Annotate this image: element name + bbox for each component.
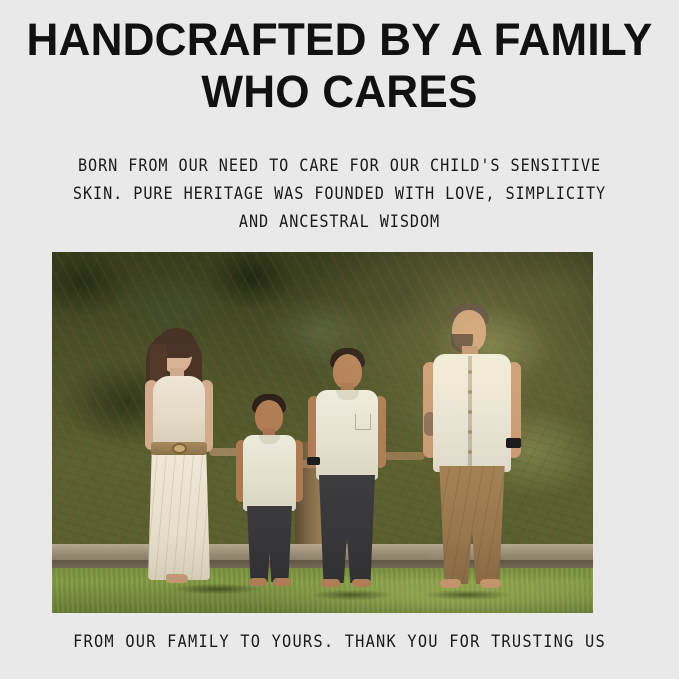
footer-tagline: FROM OUR FAMILY TO YOURS. THANK YOU FOR …: [24, 630, 655, 654]
older-boy-polo-shirt: [316, 390, 378, 480]
father-shirt-button: [468, 370, 472, 374]
older-boy-foot-right: [352, 579, 371, 587]
headline-line-1: HANDCRAFTED BY A FAMILY: [7, 14, 672, 66]
intro-line-3: AND ANCESTRAL WISDOM: [27, 208, 652, 236]
father-foot-right: [480, 579, 501, 588]
father-wrist-watch: [506, 438, 521, 448]
family-photo: [52, 252, 593, 613]
younger-boy-foot-left: [249, 578, 267, 586]
older-boy-chest-pocket: [355, 414, 371, 430]
mother-foot: [166, 574, 188, 583]
father-shirt-button: [468, 450, 472, 454]
mother-dress-top: [153, 376, 205, 448]
intro-paragraph: BORN FROM OUR NEED TO CARE FOR OUR CHILD…: [27, 152, 652, 236]
intro-line-2: SKIN. PURE HERITAGE WAS FOUNDED WITH LOV…: [27, 180, 652, 208]
father-button-shirt: [433, 354, 511, 472]
ground-shadow-father: [407, 588, 527, 602]
older-boy-wrist-watch: [307, 457, 320, 465]
held-hands-boy-father: [383, 452, 425, 460]
father-shirt-button: [468, 410, 472, 414]
younger-boy-foot-right: [273, 578, 291, 586]
headline-line-2: WHO CARES: [7, 66, 672, 118]
mother-dress-folds: [148, 452, 210, 580]
mother-belt-buckle: [172, 443, 187, 454]
father-shirt-button: [468, 390, 472, 394]
page-title: HANDCRAFTED BY A FAMILY WHO CARES: [7, 14, 672, 118]
father-foot-left: [440, 579, 461, 588]
intro-line-1: BORN FROM OUR NEED TO CARE FOR OUR CHILD…: [27, 152, 652, 180]
older-boy-foot-left: [321, 579, 340, 587]
ad-creative-card: HANDCRAFTED BY A FAMILY WHO CARES BORN F…: [0, 0, 679, 679]
younger-boy-polo-shirt: [243, 435, 296, 511]
ground-shadow-boys: [297, 588, 407, 602]
father-shirt-button: [468, 430, 472, 434]
